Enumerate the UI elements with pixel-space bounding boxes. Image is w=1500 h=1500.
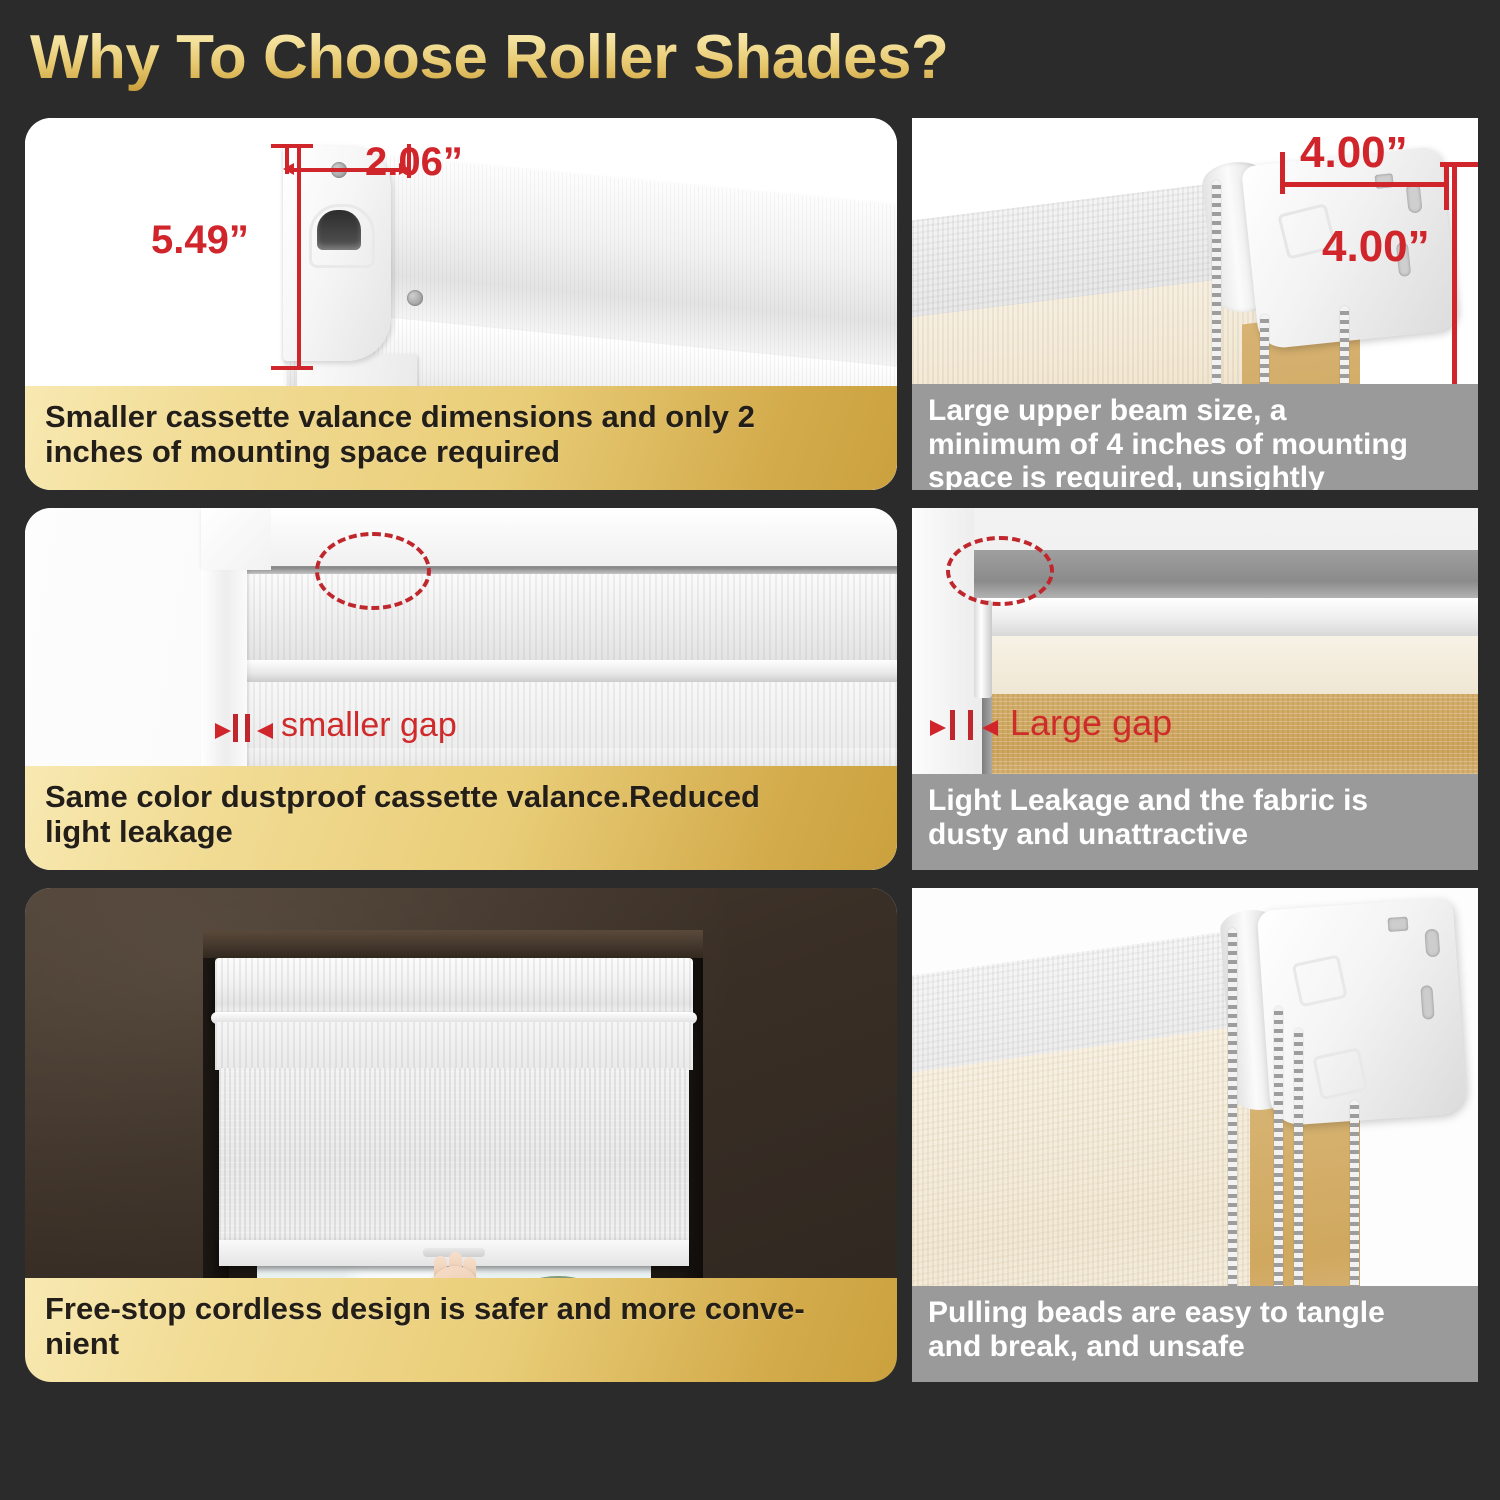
window-frame-corner xyxy=(201,508,271,570)
beam-width-tick-left xyxy=(1280,152,1285,194)
valance-second-band xyxy=(215,1022,693,1070)
beam-height-label: 4.00” xyxy=(1322,222,1430,272)
endcap-slot xyxy=(317,210,361,250)
panel-bottom-right: Pulling beads are easy to tangle and bre… xyxy=(912,888,1478,1382)
roller-tube xyxy=(974,598,1478,640)
panel-bottom-left: Free-stop cordless design is safer and m… xyxy=(25,888,897,1382)
window-frame-horizontal xyxy=(201,508,897,566)
bracket-hinge xyxy=(974,600,992,698)
infographic-root: { "title": "Why To Choose Roller Shades?… xyxy=(0,0,1500,1500)
caption-line: space is required, unsightly xyxy=(928,461,1462,490)
gap-arrow-right-icon xyxy=(215,723,231,739)
cassette-valance xyxy=(215,958,693,1016)
gap-tick-left xyxy=(950,710,955,740)
middle-rail xyxy=(243,660,897,682)
beam-width-line xyxy=(1282,182,1448,187)
screw-icon xyxy=(407,290,423,306)
caption-line: inches of mounting space required xyxy=(45,435,877,470)
height-dimension-tick-top xyxy=(271,144,313,148)
caption-line: light leakage xyxy=(45,815,877,850)
gap-arrow-left-icon xyxy=(257,723,273,739)
gap-tick-right xyxy=(968,710,973,740)
caption-bottom-right: Pulling beads are easy to tangle and bre… xyxy=(912,1286,1478,1382)
caption-line: Pulling beads are easy to tangle xyxy=(928,1296,1462,1330)
height-dimension-tick-bottom xyxy=(271,366,313,370)
caption-bottom-left: Free-stop cordless design is safer and m… xyxy=(25,1278,897,1382)
caption-top-left: Smaller cassette valance dimensions and … xyxy=(25,386,897,490)
caption-line: minimum of 4 inches of mounting xyxy=(928,428,1462,462)
caption-line: Same color dustproof cassette valance.Re… xyxy=(45,780,877,815)
page-title: Why To Choose Roller Shades? xyxy=(30,22,948,93)
gap-arrow-right-icon xyxy=(930,720,946,736)
width-arrow-left-icon xyxy=(283,163,294,175)
shade-fabric-lower xyxy=(247,748,897,766)
beam-width-label: 4.00” xyxy=(1300,128,1408,178)
height-dimension-label: 5.49” xyxy=(151,218,249,263)
caption-mid-right: Light Leakage and the fabric is dusty an… xyxy=(912,774,1478,870)
gap-arrow-left-icon xyxy=(982,720,998,736)
cream-fabric-band xyxy=(974,636,1478,694)
caption-mid-left: Same color dustproof cassette valance.Re… xyxy=(25,766,897,870)
width-dimension-label: 2.06” xyxy=(365,140,463,185)
panel-top-left: 2.06” 5.49” Smaller cassette valance dim… xyxy=(25,118,897,490)
caption-line: nient xyxy=(45,1327,877,1362)
highlight-ellipse xyxy=(315,532,431,610)
gap-tick-left xyxy=(233,714,238,742)
window-lintel xyxy=(203,930,703,958)
caption-line: dusty and unattractive xyxy=(928,818,1462,852)
height-dimension-line xyxy=(297,144,301,370)
caption-line: and break, and unsafe xyxy=(928,1330,1462,1364)
beam-height-tick-top xyxy=(1440,162,1478,167)
gap-label: smaller gap xyxy=(281,706,457,745)
highlight-ellipse xyxy=(946,536,1054,606)
beam-width-tick-right xyxy=(1444,162,1449,210)
caption-line: Light Leakage and the fabric is xyxy=(928,784,1462,818)
panel-mid-left: smaller gap Same color dustproof cassett… xyxy=(25,508,897,870)
caption-line: Free-stop cordless design is safer and m… xyxy=(45,1292,877,1327)
panel-mid-right: Large gap Light Leakage and the fabric i… xyxy=(912,508,1478,870)
gap-label: Large gap xyxy=(1010,702,1172,744)
panel-top-right: 4.00” 4.00” Large upper beam size, a min… xyxy=(912,118,1478,490)
shade-fabric xyxy=(219,1068,689,1254)
gap-tick-right xyxy=(245,714,250,742)
mounting-bracket xyxy=(1257,897,1468,1126)
caption-line: Smaller cassette valance dimensions and … xyxy=(45,400,877,435)
caption-line: Large upper beam size, a xyxy=(928,394,1462,428)
caption-top-right: Large upper beam size, a minimum of 4 in… xyxy=(912,384,1478,490)
